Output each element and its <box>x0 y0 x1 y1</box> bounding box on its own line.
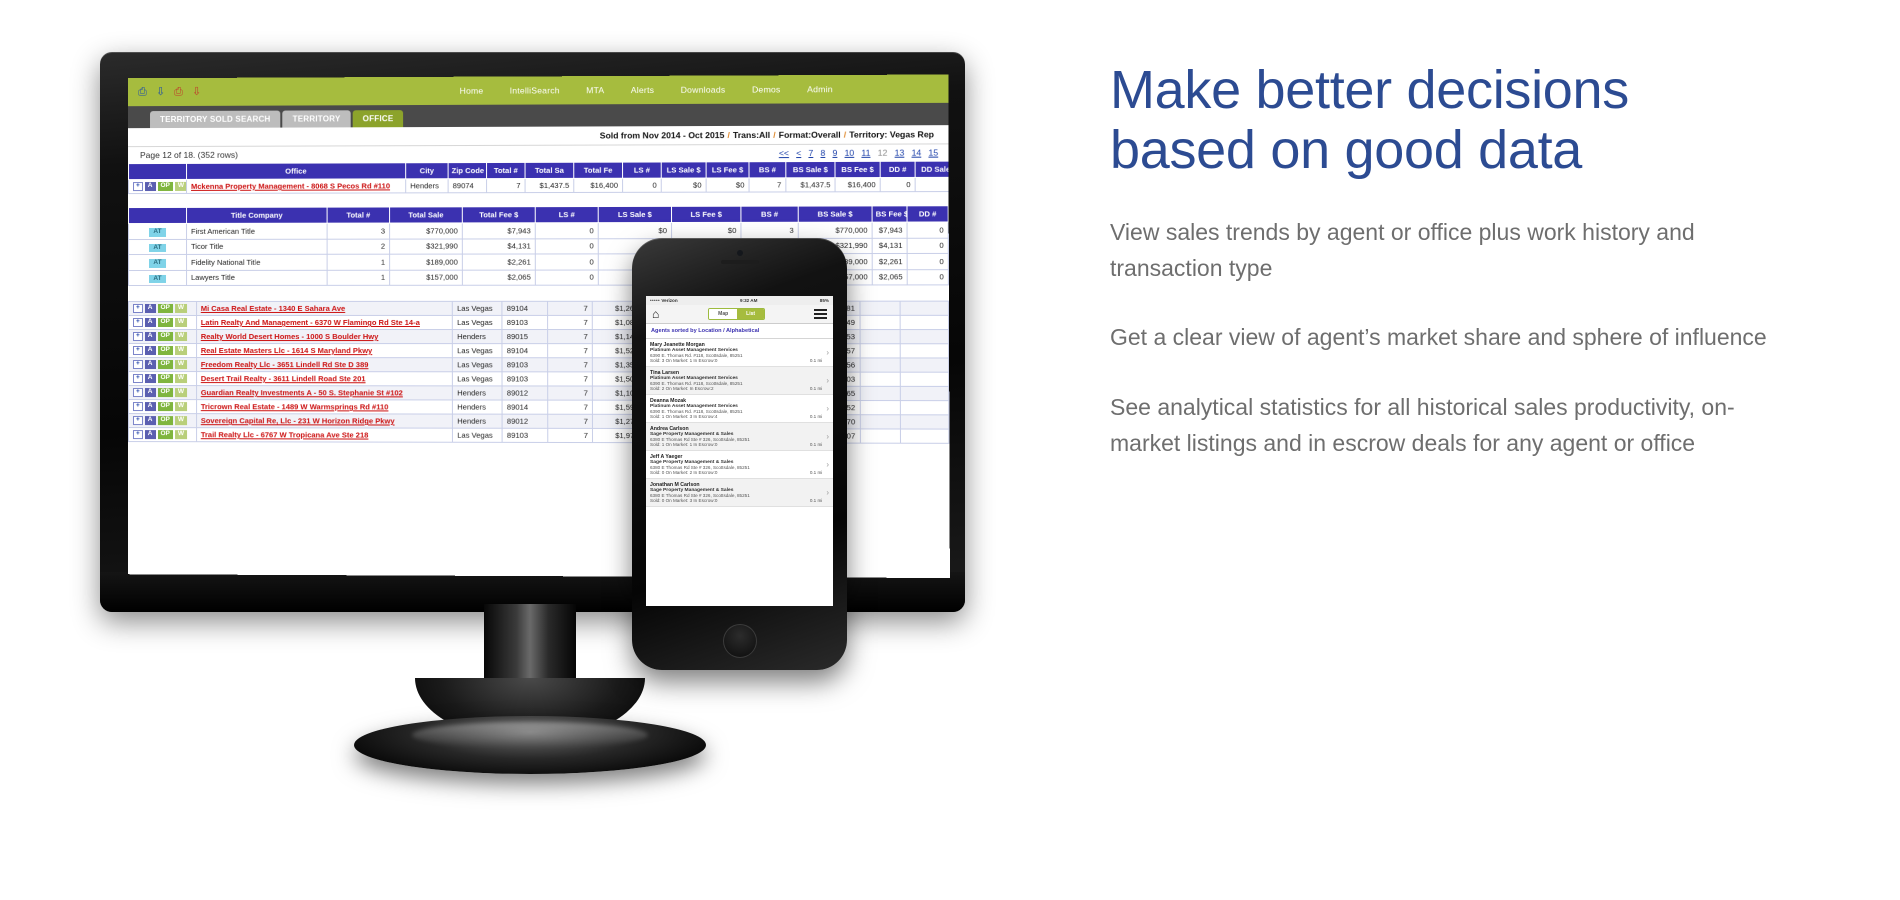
badge-op-icon[interactable]: OP <box>157 416 172 425</box>
map-list-segmented-control: Map List <box>708 308 765 320</box>
cell-title-total-fee: $2,261 <box>462 254 535 270</box>
cell-zip: 89074 <box>448 179 486 193</box>
list-item[interactable]: Deanna Mozak Platinum Asset Management S… <box>646 395 833 423</box>
cell-title-company: Lawyers Title <box>187 270 328 286</box>
cell-pad-1 <box>860 315 901 329</box>
office-link[interactable]: Desert Trail Realty - 3611 Lindell Road … <box>201 374 366 383</box>
cell-title-total-num: 2 <box>327 239 390 255</box>
cell-title-bs-fee: $4,131 <box>872 238 907 254</box>
cell-pad-1 <box>860 415 901 429</box>
status-battery: 85% <box>820 298 829 303</box>
cell-total-num: 7 <box>547 372 592 386</box>
col-city[interactable]: City <box>406 163 448 179</box>
row-badges: + A OP W <box>128 414 196 428</box>
cell-title-bs-fee: $2,065 <box>872 269 907 285</box>
badge-op-icon[interactable]: OP <box>157 430 172 439</box>
cell-title-bs-num: 3 <box>741 222 798 238</box>
title-badge-icon: AT <box>149 274 165 283</box>
expand-collapse-icon[interactable]: + <box>133 402 143 411</box>
page-link-first[interactable]: << <box>779 148 789 158</box>
cell-pad-2 <box>900 358 948 372</box>
badge-w-icon[interactable]: W <box>175 304 187 313</box>
badge-w-icon[interactable]: W <box>175 402 187 411</box>
pagination-links: << < 7 8 9 10 11 12 13 14 15 <box>779 147 938 158</box>
title-col-total-sale[interactable]: Total Sale <box>390 207 463 223</box>
cell-title-total-sale: $157,000 <box>390 270 463 286</box>
cell-title-bs-fee: $2,261 <box>872 253 907 269</box>
print-icon[interactable]: ⎙ <box>138 87 149 98</box>
criteria-trans: Trans:All <box>733 130 770 140</box>
cell-office-name[interactable]: Trail Realty Llc - 6767 W Tropicana Ave … <box>196 428 452 443</box>
cell-zip: 89103 <box>502 372 547 386</box>
front-camera-icon <box>737 250 743 256</box>
cell-title-badge: AT <box>129 239 187 255</box>
list-item[interactable]: Jonathan M Carlson Sage Property Managem… <box>646 479 833 507</box>
page-link-13[interactable]: 13 <box>895 148 905 158</box>
cell-total-sale: $1,437.5 <box>525 178 574 192</box>
badge-agents-icon[interactable]: A <box>145 374 156 383</box>
headline-line-2: based on good data <box>1110 120 1582 180</box>
chevron-right-icon[interactable]: › <box>826 432 829 441</box>
chevron-right-icon[interactable]: › <box>826 404 829 413</box>
segment-list[interactable]: List <box>737 309 764 319</box>
cell-title-ls-sale: $0 <box>598 223 671 239</box>
badge-op-icon[interactable]: OP <box>158 332 173 341</box>
cell-title-total-num: 1 <box>327 270 390 286</box>
cell-city: Las Vegas <box>453 344 503 358</box>
cell-zip: 89014 <box>502 400 547 414</box>
row-badges: + A OP W <box>129 301 197 315</box>
cell-title-dd-num: 0 <box>907 238 948 254</box>
office-link[interactable]: Freedom Realty Llc - 3651 Lindell Rd Ste… <box>201 360 369 369</box>
row-badges: + A OP W <box>128 358 196 372</box>
badge-w-icon[interactable]: W <box>175 182 187 191</box>
badge-w-icon[interactable]: W <box>175 332 187 341</box>
cell-title-ls-num: 0 <box>535 254 598 270</box>
download-icon[interactable]: ⇩ <box>156 87 167 98</box>
device-composition: ⎙ ⇩ ⎙ ⇩ Home IntelliSearch MTA Alerts Do… <box>0 0 1060 900</box>
criteria-sold-range: Sold from Nov 2014 - Oct 2015 <box>600 130 725 141</box>
signal-icon: ••••• <box>650 298 660 303</box>
row-badges: + A OP W <box>128 315 196 329</box>
cell-ls-sale: $0 <box>661 178 706 192</box>
expand-collapse-icon[interactable]: + <box>133 374 143 383</box>
cell-total-num: 7 <box>547 330 592 344</box>
cell-title-ls-num: 0 <box>535 270 598 286</box>
home-button[interactable] <box>723 624 757 658</box>
criteria-separator-3: / <box>844 130 846 140</box>
col-actions[interactable] <box>129 163 187 179</box>
agent-stats: Sold: 2 On Market: In Escrow:2 <box>650 386 714 391</box>
row-badges: + A OP W <box>128 386 196 400</box>
badge-agents-icon[interactable]: A <box>145 360 156 369</box>
list-item[interactable]: Jeff A Yaeger Sage Property Management &… <box>646 451 833 479</box>
cell-pad-1 <box>860 386 901 400</box>
cell-pad-2 <box>901 401 949 415</box>
agent-stats-row: Sold: 1 On Market: 1 In Escrow:0 0.1 mi <box>650 442 822 447</box>
cell-office-name[interactable]: Tricrown Real Estate - 1489 W Warmspring… <box>196 400 452 414</box>
agent-info: Deanna Mozak Platinum Asset Management S… <box>650 398 822 419</box>
office-link[interactable]: Real Estate Masters Llc - 1614 S Marylan… <box>201 346 372 355</box>
badge-agents-icon[interactable]: A <box>145 318 156 327</box>
agent-list-title: Agents sorted by Location / Alphabetical <box>646 324 833 339</box>
col-total-num[interactable]: Total # <box>487 162 526 178</box>
cell-title-total-fee: $2,065 <box>462 270 535 286</box>
tab-territory-sold-search[interactable]: TERRITORY SOLD SEARCH <box>150 111 281 129</box>
cell-zip: 89103 <box>502 428 547 442</box>
cell-bs-num: 7 <box>749 178 786 192</box>
cell-dd-num: 0 <box>880 177 915 191</box>
cell-city: Las Vegas <box>453 301 503 315</box>
office-summary-table: Office City Zip Code Total # Total Sa To… <box>128 161 950 194</box>
title-badge-icon: AT <box>149 259 165 268</box>
col-bs-fee[interactable]: BS Fee $ <box>835 161 880 177</box>
title-col-company[interactable]: Title Company <box>187 207 328 223</box>
cell-title-ls-num: 0 <box>535 238 598 254</box>
cell-pad-2 <box>901 415 949 429</box>
badge-w-icon[interactable]: W <box>175 346 187 355</box>
office-link[interactable]: Tricrown Real Estate - 1489 W Warmspring… <box>201 402 389 411</box>
cell-pad-2 <box>900 301 948 315</box>
cell-city: Henders <box>453 330 503 344</box>
agent-stats-row: Sold: 2 On Market: In Escrow:2 0.1 mi <box>650 386 822 391</box>
app-nav-links: Home IntelliSearch MTA Alerts Downloads … <box>460 75 833 105</box>
row-badges: + A OP W <box>128 400 196 414</box>
expand-collapse-icon[interactable]: + <box>133 304 143 313</box>
cell-title-dd-num: 0 <box>907 269 948 285</box>
expand-collapse-icon[interactable]: + <box>133 332 143 341</box>
cell-title-total-fee: $4,131 <box>462 238 535 254</box>
badge-w-icon[interactable]: W <box>175 360 187 369</box>
agent-info: Jeff A Yaeger Sage Property Management &… <box>650 454 822 475</box>
agent-stats: Sold: 1 On Market: 1 In Escrow:0 <box>650 442 717 447</box>
phone-screen: ••••• Verizon 9:32 AM 85% ⌂ Map List Age… <box>646 296 833 606</box>
phone-toolbar: ⌂ Map List <box>646 305 833 324</box>
toolbar-icon-group: ⎙ ⇩ ⎙ ⇩ <box>128 86 203 97</box>
nav-item-alerts[interactable]: Alerts <box>631 85 654 95</box>
title-col-total-fee[interactable]: Total Fee $ <box>462 207 535 223</box>
chevron-right-icon[interactable]: › <box>826 376 829 385</box>
cell-zip: 89015 <box>502 330 547 344</box>
cell-city: Las Vegas <box>453 315 503 329</box>
badge-agents-icon[interactable]: A <box>145 430 156 439</box>
cell-dd-sale <box>915 177 950 191</box>
title-col-dd-num[interactable]: DD # <box>907 206 948 222</box>
page-link-8[interactable]: 8 <box>820 148 825 158</box>
row-badges: + A OP W <box>128 330 196 344</box>
cell-title-total-num: 1 <box>327 254 390 270</box>
agent-info: Mary Jeanette Morgan Platinum Asset Mana… <box>650 342 822 363</box>
cell-zip: 89012 <box>502 414 547 428</box>
cell-city: Henders <box>406 179 448 193</box>
page-link-9[interactable]: 9 <box>832 148 837 158</box>
badge-w-icon[interactable]: W <box>175 416 187 425</box>
cell-pad-1 <box>859 301 900 315</box>
title-table-header-row: Title Company Total # Total Sale Total F… <box>129 206 949 224</box>
home-icon[interactable]: ⌂ <box>652 308 659 320</box>
office-link[interactable]: Trail Realty Llc - 6767 W Tropicana Ave … <box>201 430 369 439</box>
cell-title-total-fee: $7,943 <box>462 223 535 239</box>
earpiece-speaker <box>721 260 759 264</box>
headline-line-1: Make better decisions <box>1110 60 1629 120</box>
agent-distance: 0.1 mi <box>810 386 823 391</box>
cell-zip: 89103 <box>502 315 547 329</box>
cell-office-name[interactable]: Guardian Realty Investments A - 50 S. St… <box>196 386 452 400</box>
nav-item-home[interactable]: Home <box>460 86 484 96</box>
nav-item-mta[interactable]: MTA <box>586 85 604 95</box>
col-bs-sale[interactable]: BS Sale $ <box>786 161 835 177</box>
agent-info: Jonathan M Carlson Sage Property Managem… <box>650 482 822 503</box>
page-link-11[interactable]: 11 <box>861 148 870 158</box>
monitor-base-highlight <box>412 722 648 748</box>
tab-strip: TERRITORY SOLD SEARCH TERRITORY OFFICE <box>128 103 948 128</box>
title-badge-icon: AT <box>149 228 165 237</box>
badge-w-icon[interactable]: W <box>175 318 187 327</box>
agent-stats-row: Sold: 3 On Market: 1 In Escrow:0 0.1 mi <box>650 358 822 363</box>
cell-office-name[interactable]: Latin Realty And Management - 6370 W Fla… <box>196 315 452 329</box>
cell-office-name[interactable]: Real Estate Masters Llc - 1614 S Marylan… <box>196 344 452 358</box>
cell-pad-1 <box>860 344 901 358</box>
table-gap <box>128 192 949 201</box>
badge-agents-icon[interactable]: A <box>145 402 156 411</box>
cell-city: Las Vegas <box>453 358 503 372</box>
expand-collapse-icon[interactable]: + <box>133 182 143 191</box>
cell-title-bs-sale: $770,000 <box>798 222 872 238</box>
page-link-7[interactable]: 7 <box>808 148 813 158</box>
cell-pad-2 <box>901 386 949 400</box>
badge-op-icon[interactable]: OP <box>158 374 173 383</box>
cell-office-name[interactable]: Mckenna Property Management - 8068 S Pec… <box>187 179 406 194</box>
agent-distance: 0.1 mi <box>810 498 823 503</box>
app-top-navbar: ⎙ ⇩ ⎙ ⇩ Home IntelliSearch MTA Alerts Do… <box>128 74 948 106</box>
agent-stats: Sold: 0 On Market: 2 In Escrow:0 <box>650 470 717 475</box>
cell-pad-2 <box>901 429 949 443</box>
row-badges: + A OP W <box>128 372 196 386</box>
office-link[interactable]: Latin Realty And Management - 6370 W Fla… <box>201 318 420 327</box>
cell-total-num: 7 <box>547 386 592 400</box>
marketing-copy: Make better decisions based on good data… <box>1110 60 1810 461</box>
cell-zip: 89104 <box>502 344 547 358</box>
cell-title-badge: AT <box>129 254 187 270</box>
badge-agents-icon[interactable]: A <box>145 416 156 425</box>
cell-title-dd-num: 0 <box>907 253 948 269</box>
cell-title-company: First American Title <box>187 223 328 239</box>
list-item[interactable]: Mary Jeanette Morgan Platinum Asset Mana… <box>646 339 833 367</box>
phone-status-bar: ••••• Verizon 9:32 AM 85% <box>646 296 833 305</box>
cell-pad-1 <box>860 330 901 344</box>
cell-pad-1 <box>860 358 901 372</box>
cell-pad-1 <box>860 429 901 443</box>
cell-title-total-sale: $321,990 <box>390 238 463 254</box>
cell-title-badge: AT <box>129 270 187 286</box>
expand-collapse-icon[interactable]: + <box>133 346 143 355</box>
col-bs-num[interactable]: BS # <box>749 162 786 178</box>
page-link-prev[interactable]: < <box>796 148 801 158</box>
office-link[interactable]: Mckenna Property Management - 8068 S Pec… <box>191 181 390 191</box>
table-row[interactable]: AT First American Title 3 $770,000 $7,94… <box>129 222 949 239</box>
col-dd-num[interactable]: DD # <box>880 161 915 177</box>
badge-op-icon[interactable]: OP <box>158 182 173 191</box>
table-row-expanded-office[interactable]: + A OP W Mckenna Property Management - 8… <box>129 177 950 193</box>
cell-total-num: 7 <box>547 414 592 428</box>
cell-title-company: Ticor Title <box>187 239 328 255</box>
cell-pad-2 <box>900 330 948 344</box>
criteria-separator-1: / <box>727 130 729 140</box>
tab-office[interactable]: OFFICE <box>353 110 404 127</box>
agent-info: Andrea Carlson Sage Property Management … <box>650 426 822 447</box>
cell-office-name[interactable]: Realty World Desert Homes - 1000 S Bould… <box>196 330 452 344</box>
page-title: Make better decisions based on good data <box>1110 60 1810 181</box>
col-office[interactable]: Office <box>187 163 406 180</box>
cell-city: Henders <box>453 414 503 428</box>
criteria-territory: Territory: Vegas Rep <box>849 129 934 139</box>
cell-zip: 89104 <box>502 301 547 315</box>
agent-distance: 0.1 mi <box>810 442 823 447</box>
title-col-ls-sale[interactable]: LS Sale $ <box>598 206 671 222</box>
cell-pad-2 <box>900 344 948 358</box>
expand-collapse-icon[interactable]: + <box>133 416 143 425</box>
col-dd-sale[interactable]: DD Sale <box>915 161 950 177</box>
cell-title-ls-num: 0 <box>535 223 598 239</box>
col-ls-sale[interactable]: LS Sale $ <box>661 162 706 178</box>
badge-op-icon[interactable]: OP <box>158 304 173 313</box>
badge-w-icon[interactable]: W <box>175 388 187 397</box>
badge-op-icon[interactable]: OP <box>158 360 173 369</box>
title-col-bs-sale[interactable]: BS Sale $ <box>798 206 872 222</box>
col-zip[interactable]: Zip Code <box>448 163 486 179</box>
title-col-badge <box>129 207 187 223</box>
nav-item-intellisearch[interactable]: IntelliSearch <box>510 85 560 95</box>
body-paragraph-2: Get a clear view of agent’s market share… <box>1110 320 1770 356</box>
office-link[interactable]: Sovereign Capital Re, Llc - 231 W Horizo… <box>201 416 395 425</box>
title-col-ls-fee[interactable]: LS Fee $ <box>671 206 740 222</box>
cell-total-fee: $16,400 <box>574 178 623 192</box>
page-link-14[interactable]: 14 <box>912 148 922 158</box>
cell-office-name[interactable]: Sovereign Capital Re, Llc - 231 W Horizo… <box>196 414 452 429</box>
agent-stats: Sold: 3 On Market: 1 In Escrow:0 <box>650 358 717 363</box>
cell-total-num: 7 <box>547 428 592 442</box>
cell-total-num: 7 <box>547 301 592 315</box>
agent-distance: 0.1 mi <box>810 358 823 363</box>
agent-stats-row: Sold: 1 On Market: 3 In Escrow:4 0.1 mi <box>650 414 822 419</box>
col-ls-num[interactable]: LS # <box>623 162 662 178</box>
chevron-right-icon[interactable]: › <box>826 460 829 469</box>
page-link-15[interactable]: 15 <box>928 147 938 157</box>
mobile-phone: ••••• Verizon 9:32 AM 85% ⌂ Map List Age… <box>632 238 847 670</box>
expand-collapse-icon[interactable]: + <box>133 430 143 439</box>
expand-collapse-icon[interactable]: + <box>133 388 143 397</box>
badge-agents-icon[interactable]: A <box>145 388 156 397</box>
cell-title-total-sale: $189,000 <box>390 254 463 270</box>
col-ls-fee[interactable]: LS Fee $ <box>706 162 749 178</box>
cell-title-badge: AT <box>129 223 187 239</box>
cell-zip: 89012 <box>502 386 547 400</box>
body-paragraph-1: View sales trends by agent or office plu… <box>1110 215 1770 286</box>
title-col-ls-num[interactable]: LS # <box>535 207 598 223</box>
badge-agents-icon[interactable]: A <box>145 304 156 313</box>
cell-total-num: 7 <box>547 344 592 358</box>
chevron-right-icon[interactable]: › <box>826 488 829 497</box>
status-time: 9:32 AM <box>740 298 757 303</box>
agent-info: Tina Larsen Platinum Asset Management Se… <box>650 370 822 391</box>
cell-city: Henders <box>453 400 503 414</box>
cell-office-name[interactable]: Desert Trail Realty - 3611 Lindell Road … <box>196 372 452 386</box>
cell-zip: 89103 <box>502 358 547 372</box>
title-col-bs-num[interactable]: BS # <box>741 206 798 222</box>
tab-territory[interactable]: TERRITORY <box>283 110 351 127</box>
title-col-total-num[interactable]: Total # <box>327 207 389 223</box>
cell-title-bs-fee: $7,943 <box>872 222 907 238</box>
page-link-12-current: 12 <box>878 148 888 158</box>
nav-item-downloads[interactable]: Downloads <box>681 85 726 95</box>
title-col-bs-fee[interactable]: BS Fee $ <box>872 206 907 222</box>
badge-op-icon[interactable]: OP <box>158 318 173 327</box>
expand-collapse-icon[interactable]: + <box>133 318 143 327</box>
print-red-icon[interactable]: ⎙ <box>174 86 185 97</box>
col-total-fee[interactable]: Total Fe <box>574 162 623 178</box>
cell-title-company: Fidelity National Title <box>187 254 328 270</box>
agent-stats-row: Sold: 0 On Market: 2 In Escrow:0 0.1 mi <box>650 470 822 475</box>
cell-title-ls-fee: $0 <box>672 222 741 238</box>
agent-distance: 0.1 mi <box>810 414 823 419</box>
cell-city: Las Vegas <box>453 428 503 442</box>
cell-title-total-num: 3 <box>327 223 389 239</box>
cell-ls-num: 0 <box>623 178 662 192</box>
row-badges: + A OP W <box>128 428 196 442</box>
agent-stats: Sold: 0 On Market: 3 In Escrow:0 <box>650 498 717 503</box>
row-badges: + A OP W <box>129 179 187 193</box>
nav-item-admin[interactable]: Admin <box>807 84 833 94</box>
list-item[interactable]: Tina Larsen Platinum Asset Management Se… <box>646 367 833 395</box>
segment-map[interactable]: Map <box>709 309 737 319</box>
cell-city: Las Vegas <box>453 372 503 386</box>
cell-pad-2 <box>900 372 948 386</box>
chevron-right-icon[interactable]: › <box>826 348 829 357</box>
badge-op-icon[interactable]: OP <box>158 346 173 355</box>
cell-total-num: 7 <box>547 400 592 414</box>
cell-ls-fee: $0 <box>706 178 749 192</box>
criteria-format: Format:Overall <box>779 130 841 140</box>
page-summary: Page 12 of 18. (352 rows) <box>140 150 238 160</box>
agent-stats: Sold: 1 On Market: 3 In Escrow:4 <box>650 414 717 419</box>
office-link[interactable]: Realty World Desert Homes - 1000 S Bould… <box>201 332 379 341</box>
cell-bs-fee: $16,400 <box>835 178 880 192</box>
badge-agents-icon[interactable]: A <box>145 332 156 341</box>
badge-agents-icon[interactable]: A <box>145 346 156 355</box>
body-paragraph-3: See analytical statistics for all histor… <box>1110 390 1770 461</box>
nav-item-demos[interactable]: Demos <box>752 84 781 94</box>
list-item[interactable]: Andrea Carlson Sage Property Management … <box>646 423 833 451</box>
cell-total-num: 7 <box>547 315 592 329</box>
cell-office-name[interactable]: Mi Casa Real Estate - 1340 E Sahara Ave <box>196 301 452 315</box>
badge-w-icon[interactable]: W <box>175 430 187 439</box>
badge-op-icon[interactable]: OP <box>158 402 173 411</box>
badge-agents-icon[interactable]: A <box>145 182 156 191</box>
page-link-10[interactable]: 10 <box>845 148 855 158</box>
office-link[interactable]: Guardian Realty Investments A - 50 S. St… <box>201 388 403 397</box>
cell-office-name[interactable]: Freedom Realty Llc - 3651 Lindell Rd Ste… <box>196 358 452 372</box>
col-total-sale[interactable]: Total Sa <box>525 162 574 178</box>
cell-bs-sale: $1,437.5 <box>786 178 835 192</box>
office-link[interactable]: Mi Casa Real Estate - 1340 E Sahara Ave <box>201 304 345 313</box>
status-left: ••••• Verizon <box>650 298 678 303</box>
download-red-icon[interactable]: ⇩ <box>192 86 203 97</box>
expand-collapse-icon[interactable]: + <box>133 360 143 369</box>
cell-city: Henders <box>453 386 503 400</box>
badge-op-icon[interactable]: OP <box>158 388 173 397</box>
hamburger-icon[interactable] <box>814 309 827 319</box>
badge-w-icon[interactable]: W <box>175 374 187 383</box>
